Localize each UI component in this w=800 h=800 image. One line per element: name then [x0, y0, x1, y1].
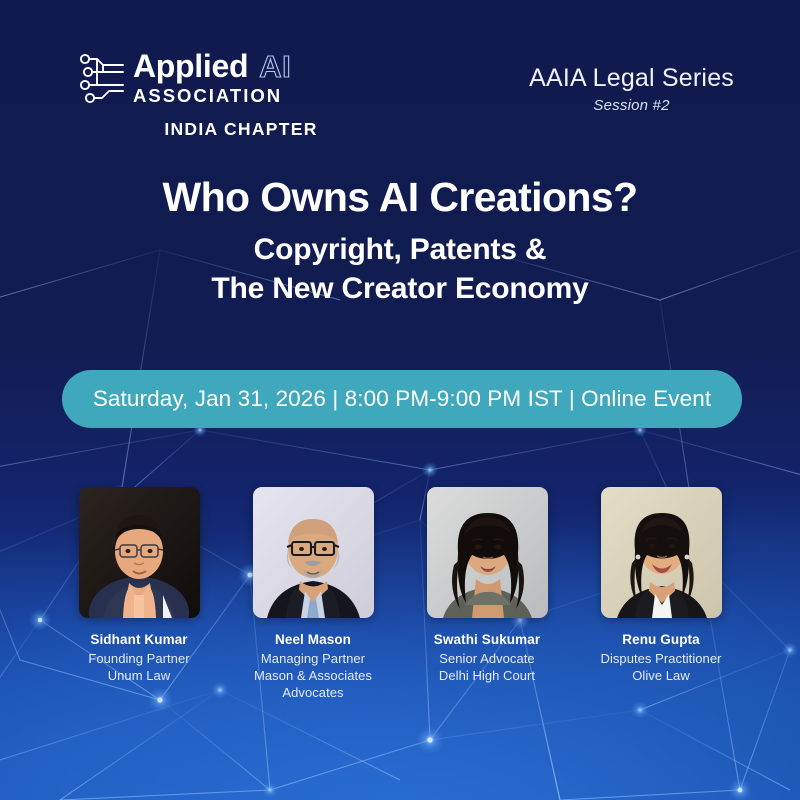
portrait-renu-gupta [601, 487, 722, 618]
speaker-card: Renu Gupta Disputes Practitioner Olive L… [596, 487, 726, 702]
speaker-card: Neel Mason Managing Partner Mason & Asso… [248, 487, 378, 702]
event-details-text: Saturday, Jan 31, 2026 | 8:00 PM-9:00 PM… [93, 386, 711, 412]
headline-line-3: The New Creator Economy [0, 270, 800, 308]
circuit-nodes-icon [78, 52, 124, 104]
speaker-role: Managing Partner Mason & Associates Advo… [254, 650, 372, 702]
avatar [253, 487, 374, 618]
portrait-swathi-sukumar [427, 487, 548, 618]
speaker-name: Sidhant Kumar [90, 632, 187, 649]
speaker-role: Founding Partner Unum Law [88, 650, 189, 685]
brand-logo: Applied AI ASSOCIATION INDIA CHAPTER [78, 50, 378, 140]
speakers-row: Sidhant Kumar Founding Partner Unum Law [0, 487, 800, 702]
series-session: Session #2 [529, 97, 734, 114]
portrait-sidhant-kumar [79, 487, 200, 618]
avatar [427, 487, 548, 618]
speaker-role: Disputes Practitioner Olive Law [601, 650, 722, 685]
speaker-role: Senior Advocate Delhi High Court [439, 650, 535, 685]
poster-header: Applied AI ASSOCIATION INDIA CHAPTER AAI… [0, 0, 800, 160]
logo-chapter-text: INDIA CHAPTER [104, 119, 378, 140]
series-title: AAIA Legal Series [529, 64, 734, 94]
headline-main: Who Owns AI Creations? [0, 176, 800, 219]
speaker-name: Swathi Sukumar [434, 632, 540, 649]
series-label: AAIA Legal Series Session #2 [529, 64, 734, 114]
logo-association-text: ASSOCIATION [133, 87, 291, 106]
event-poster: Applied AI ASSOCIATION INDIA CHAPTER AAI… [0, 0, 800, 800]
event-details-banner: Saturday, Jan 31, 2026 | 8:00 PM-9:00 PM… [62, 370, 742, 428]
headline-line-2: Copyright, Patents & [0, 231, 800, 269]
speaker-card: Swathi Sukumar Senior Advocate Delhi Hig… [422, 487, 552, 702]
portrait-neel-mason [253, 487, 374, 618]
headline-block: Who Owns AI Creations? Copyright, Patent… [0, 176, 800, 308]
speaker-card: Sidhant Kumar Founding Partner Unum Law [74, 487, 204, 702]
logo-applied-text: Applied [133, 50, 248, 82]
avatar [79, 487, 200, 618]
speaker-name: Renu Gupta [622, 632, 700, 649]
logo-ai-text: AI [259, 51, 291, 82]
avatar [601, 487, 722, 618]
speaker-name: Neel Mason [275, 632, 351, 649]
